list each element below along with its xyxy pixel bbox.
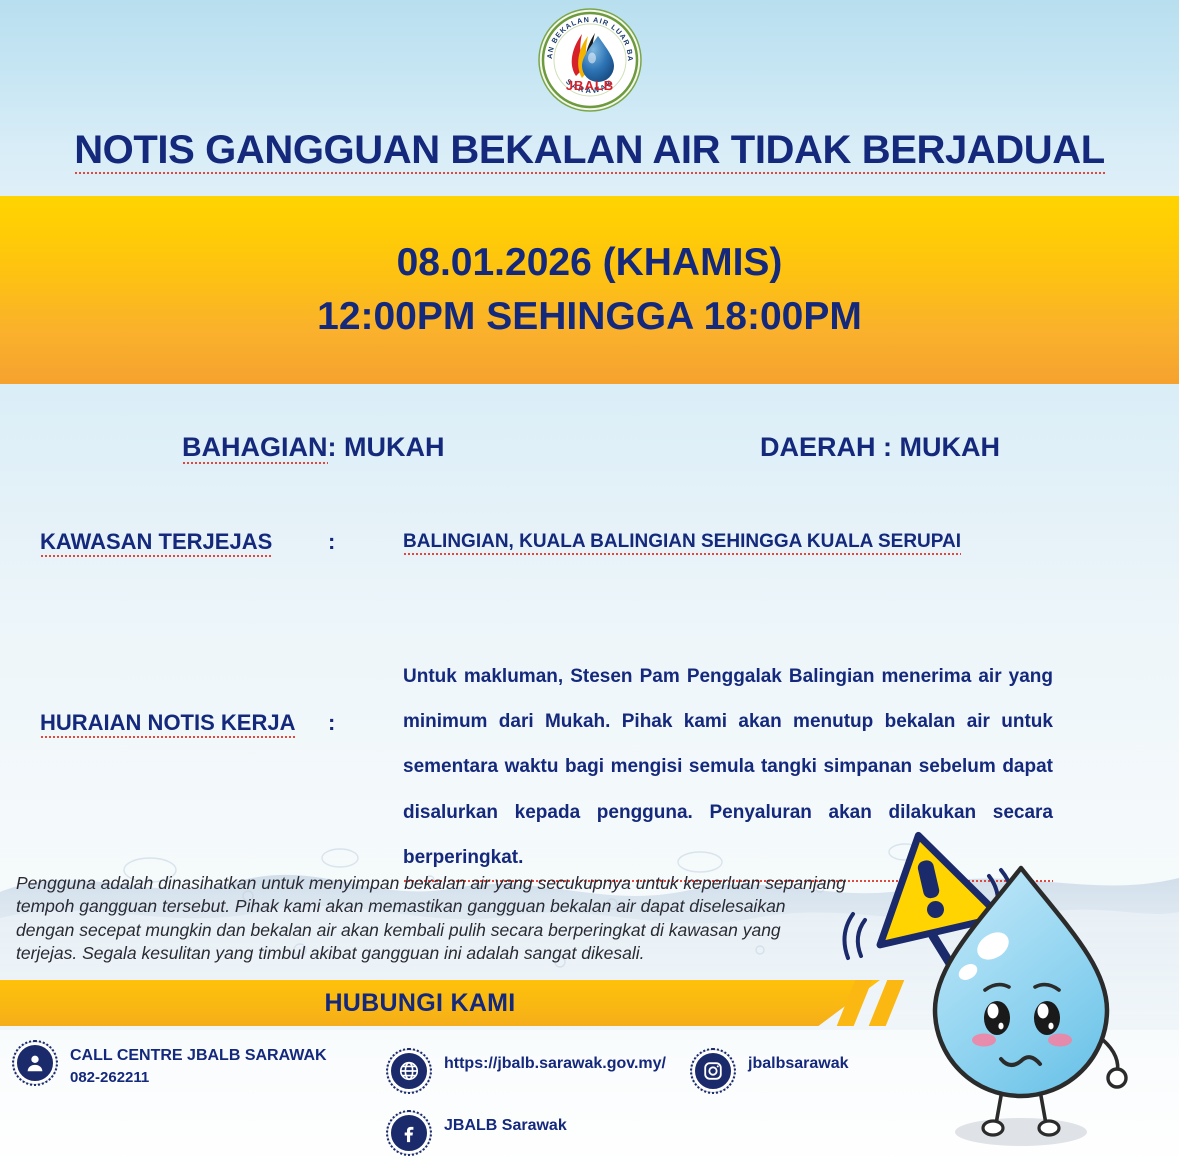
division-label: BAHAGIAN — [182, 432, 328, 465]
date-banner: 08.01.2026 (KHAMIS) 12:00PM SEHINGGA 18:… — [0, 196, 1179, 384]
call-centre-text: CALL CENTRE JBALB SARAWAK 082-262211 — [70, 1042, 327, 1089]
facebook-icon — [388, 1112, 430, 1154]
affected-area-label: KAWASAN TERJEJAS — [40, 529, 272, 558]
work-description-label: HURAIAN NOTIS KERJA — [40, 710, 295, 739]
contact-banner-title: HUBUNGI KAMI — [324, 989, 515, 1018]
contact-facebook[interactable]: JBALB Sarawak — [388, 1112, 567, 1154]
work-description-value: Untuk makluman, Stesen Pam Penggalak Bal… — [403, 654, 1053, 883]
notice-date: 08.01.2026 (KHAMIS) — [397, 236, 783, 290]
page-title-text: NOTIS GANGGUAN BEKALAN AIR TIDAK BERJADU… — [74, 128, 1105, 175]
notice-time-range: 12:00PM SEHINGGA 18:00PM — [317, 290, 862, 344]
work-description-separator: : — [328, 710, 335, 736]
contact-banner: HUBUNGI KAMI — [0, 980, 1179, 1026]
division-value: MUKAH — [344, 432, 445, 462]
instagram-handle[interactable]: jbalbsarawak — [748, 1050, 849, 1075]
banner-slash-decoration-2 — [869, 980, 905, 1026]
call-centre-number[interactable]: 082-262211 — [70, 1067, 327, 1089]
page-title: NOTIS GANGGUAN BEKALAN AIR TIDAK BERJADU… — [0, 128, 1179, 173]
contact-call-centre: CALL CENTRE JBALB SARAWAK 082-262211 — [14, 1042, 327, 1089]
contact-instagram[interactable]: jbalbsarawak — [692, 1050, 849, 1092]
svg-text:JBALB: JBALB — [565, 78, 613, 93]
disclaimer-text: Pengguna adalah dinasihatkan untuk menyi… — [16, 872, 846, 965]
contact-website[interactable]: https://jbalb.sarawak.gov.my/ — [388, 1050, 666, 1092]
contact-list: CALL CENTRE JBALB SARAWAK 082-262211 htt… — [0, 1032, 1179, 1169]
contact-banner-shape: HUBUNGI KAMI — [0, 980, 880, 1026]
district-label: DAERAH — [760, 432, 876, 462]
jbalb-logo-icon: JABATAN BEKALAN AIR LUAR BANDAR SARAWAK … — [538, 8, 642, 112]
instagram-icon — [692, 1050, 734, 1092]
globe-icon — [388, 1050, 430, 1092]
affected-area-separator: : — [328, 529, 335, 555]
notice-poster: JABATAN BEKALAN AIR LUAR BANDAR SARAWAK … — [0, 0, 1179, 1169]
division-separator: : — [328, 432, 337, 462]
jbalb-logo: JABATAN BEKALAN AIR LUAR BANDAR SARAWAK … — [538, 8, 642, 112]
facebook-handle[interactable]: JBALB Sarawak — [444, 1112, 567, 1137]
district-right: DAERAH : MUKAH — [760, 432, 1000, 463]
website-url[interactable]: https://jbalb.sarawak.gov.my/ — [444, 1050, 666, 1075]
person-icon — [14, 1042, 56, 1084]
call-centre-label: CALL CENTRE JBALB SARAWAK — [70, 1047, 327, 1064]
division-left: BAHAGIAN: MUKAH — [182, 432, 445, 463]
district-separator: : — [883, 432, 892, 462]
district-value: MUKAH — [900, 432, 1001, 462]
affected-area-value: BALINGIAN, KUALA BALINGIAN SEHINGGA KUAL… — [403, 531, 961, 556]
